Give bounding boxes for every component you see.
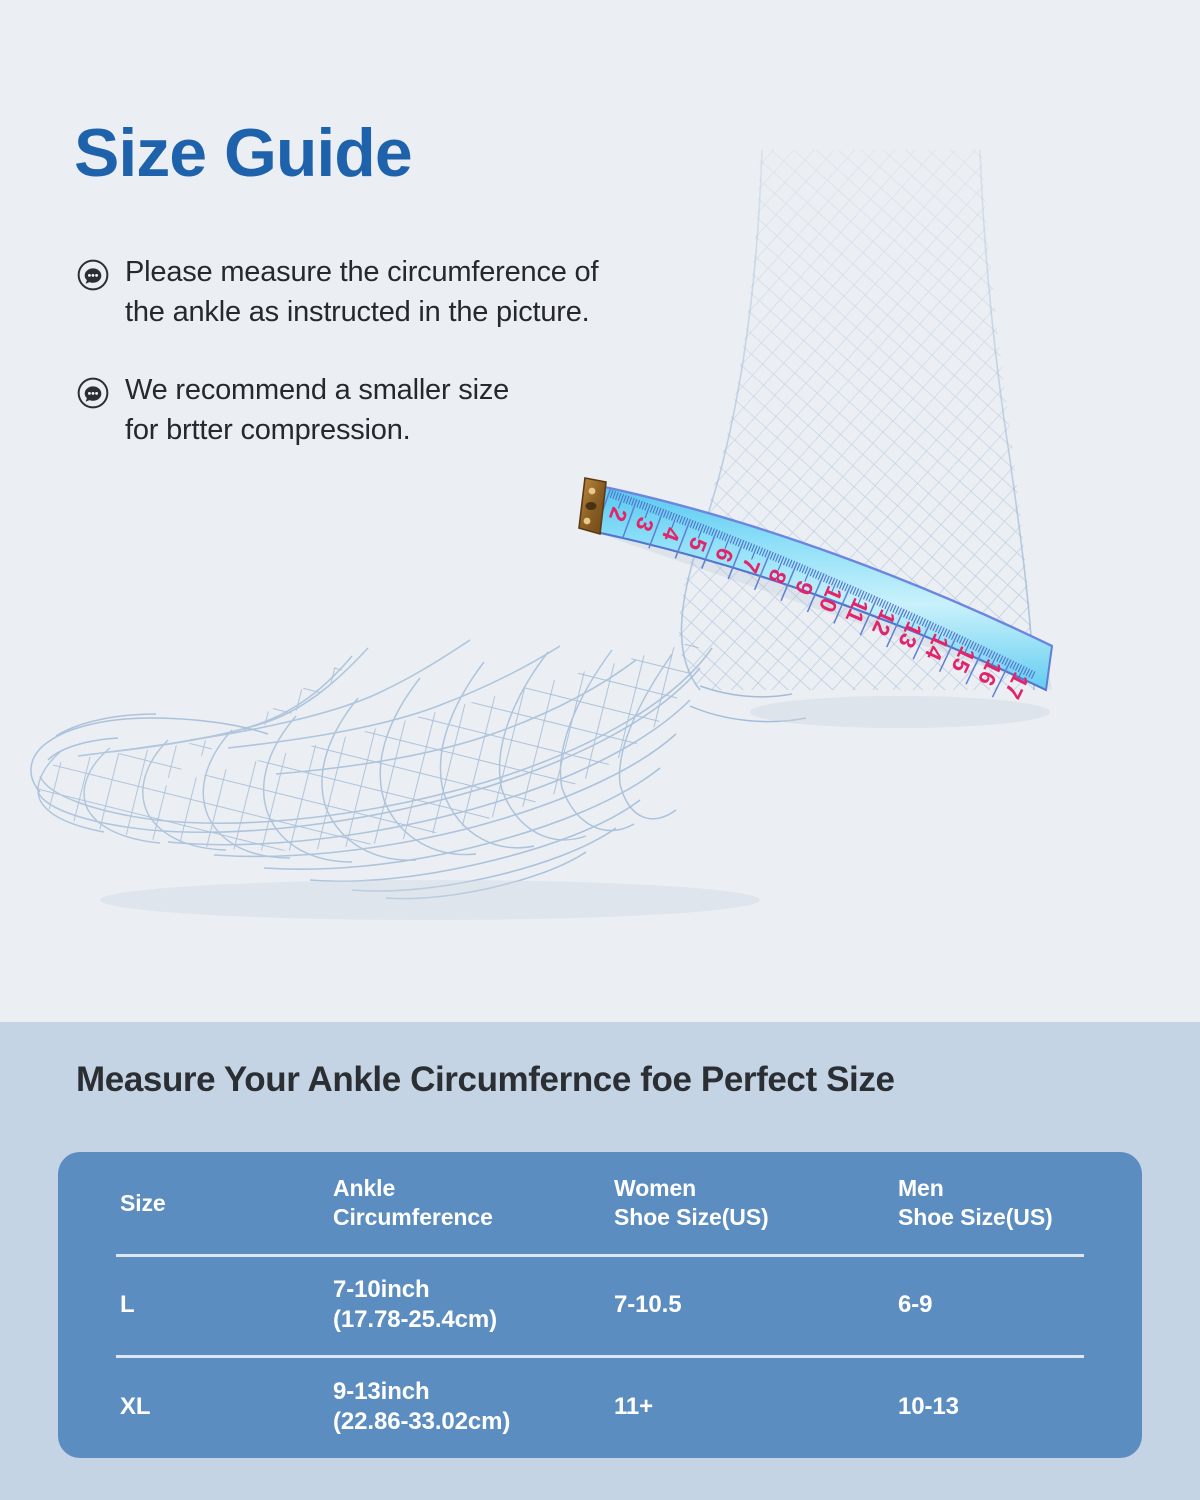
cell-ankle-circumference: 7-10inch (17.78-25.4cm) xyxy=(333,1275,608,1335)
cell-women-shoe-size: 11+ xyxy=(614,1392,889,1422)
cell-men-shoe-size: 6-9 xyxy=(898,1290,1128,1320)
tape-number: 11 xyxy=(841,595,875,628)
cell-ankle-circumference: 9-13inch (22.86-33.02cm) xyxy=(333,1377,608,1437)
column-header-women-shoe-size: Women Shoe Size(US) xyxy=(614,1174,889,1232)
table-header-row: Size Ankle Circumference Women Shoe Size… xyxy=(58,1152,1142,1254)
tape-number: 13 xyxy=(893,618,927,652)
cell-women-shoe-size: 7-10.5 xyxy=(614,1290,889,1320)
cell-size: L xyxy=(120,1290,330,1320)
tape-number: 5 xyxy=(684,534,713,556)
tape-number: 2 xyxy=(604,504,633,525)
tape-number: 9 xyxy=(790,577,819,599)
tape-number: 3 xyxy=(631,514,660,535)
top-illustration-panel: 234567891011121314151617 Size Guide Plea… xyxy=(0,0,1200,1022)
page-title: Size Guide xyxy=(74,118,412,189)
tape-number: 15 xyxy=(946,643,981,677)
tape-number: 10 xyxy=(814,582,848,616)
tape-number: 14 xyxy=(920,630,954,664)
cell-size: XL xyxy=(120,1392,330,1422)
tape-number: 12 xyxy=(867,606,901,640)
size-table: Size Ankle Circumference Women Shoe Size… xyxy=(58,1152,1142,1458)
tape-number: 6 xyxy=(710,544,739,566)
instruction-text: We recommend a smaller size for brtter c… xyxy=(125,370,509,450)
instruction-text: Please measure the circumference of the … xyxy=(125,252,598,332)
chat-bubble-icon xyxy=(76,376,110,410)
tape-number: 16 xyxy=(973,656,1008,690)
instruction-item: Please measure the circumference of the … xyxy=(76,252,598,332)
tape-number: 4 xyxy=(657,524,686,545)
column-header-men-shoe-size: Men Shoe Size(US) xyxy=(898,1174,1128,1232)
section-heading: Measure Your Ankle Circumfernce foe Perf… xyxy=(76,1060,895,1100)
table-row: L 7-10inch (17.78-25.4cm) 7-10.5 6-9 xyxy=(58,1254,1142,1355)
cell-men-shoe-size: 10-13 xyxy=(898,1392,1128,1422)
chat-bubble-icon xyxy=(76,258,110,292)
tape-number: 17 xyxy=(999,669,1034,703)
tape-end-clip xyxy=(579,478,606,534)
instruction-item: We recommend a smaller size for brtter c… xyxy=(76,370,509,450)
tape-number: 7 xyxy=(737,555,766,577)
table-row: XL 9-13inch (22.86-33.02cm) 11+ 10-13 xyxy=(58,1355,1142,1458)
column-header-ankle-circumference: Ankle Circumference xyxy=(333,1174,608,1232)
size-chart-panel: Measure Your Ankle Circumfernce foe Perf… xyxy=(0,1022,1200,1500)
column-header-size: Size xyxy=(120,1189,330,1218)
tape-number: 8 xyxy=(763,566,792,588)
